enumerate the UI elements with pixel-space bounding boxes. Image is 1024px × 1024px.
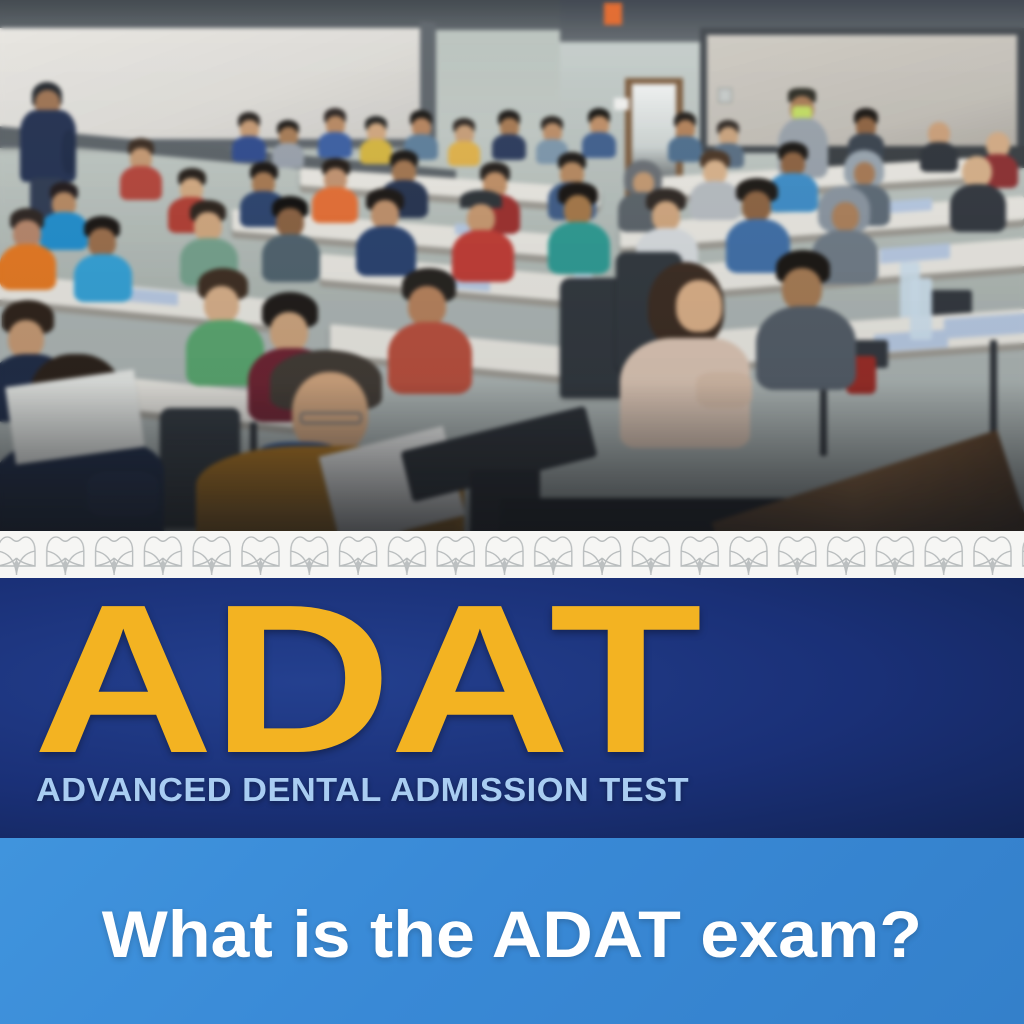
adat-logo-band: ADAT ADVANCED DENTAL ADMISSION TEST [0, 578, 1024, 838]
person-seated [262, 196, 320, 276]
person-seated [0, 208, 56, 284]
person-seated [548, 182, 610, 268]
question-text: What is the ADAT exam? [102, 896, 922, 972]
question-banner: What is the ADAT exam? [0, 838, 1024, 1024]
door-notice-sign [614, 98, 629, 110]
adat-poster: ADAT ADVANCED DENTAL ADMISSION TEST What… [0, 0, 1024, 1024]
thermostat-icon [718, 88, 732, 103]
person-seated [448, 118, 480, 162]
floor-shadow [0, 382, 1024, 532]
person-seated [848, 108, 884, 156]
person-seated [318, 108, 352, 154]
person-seated [582, 108, 616, 154]
exit-sign [604, 3, 622, 25]
person-seated-cap [452, 190, 514, 276]
person-seated-bald [950, 156, 1006, 228]
person-seated [74, 216, 132, 296]
person-seated [272, 120, 304, 164]
exam-hall-photo [0, 0, 1024, 532]
person-seated [232, 112, 266, 158]
adat-wordmark: ADAT [33, 583, 700, 775]
person-seated [120, 138, 162, 196]
water-bottle [910, 278, 932, 340]
adat-tagline: ADVANCED DENTAL ADMISSION TEST [36, 771, 689, 809]
person-standing-proctor-left [18, 82, 88, 190]
person-seated [492, 110, 526, 156]
person-seated [356, 188, 416, 270]
person-seated [756, 250, 856, 380]
